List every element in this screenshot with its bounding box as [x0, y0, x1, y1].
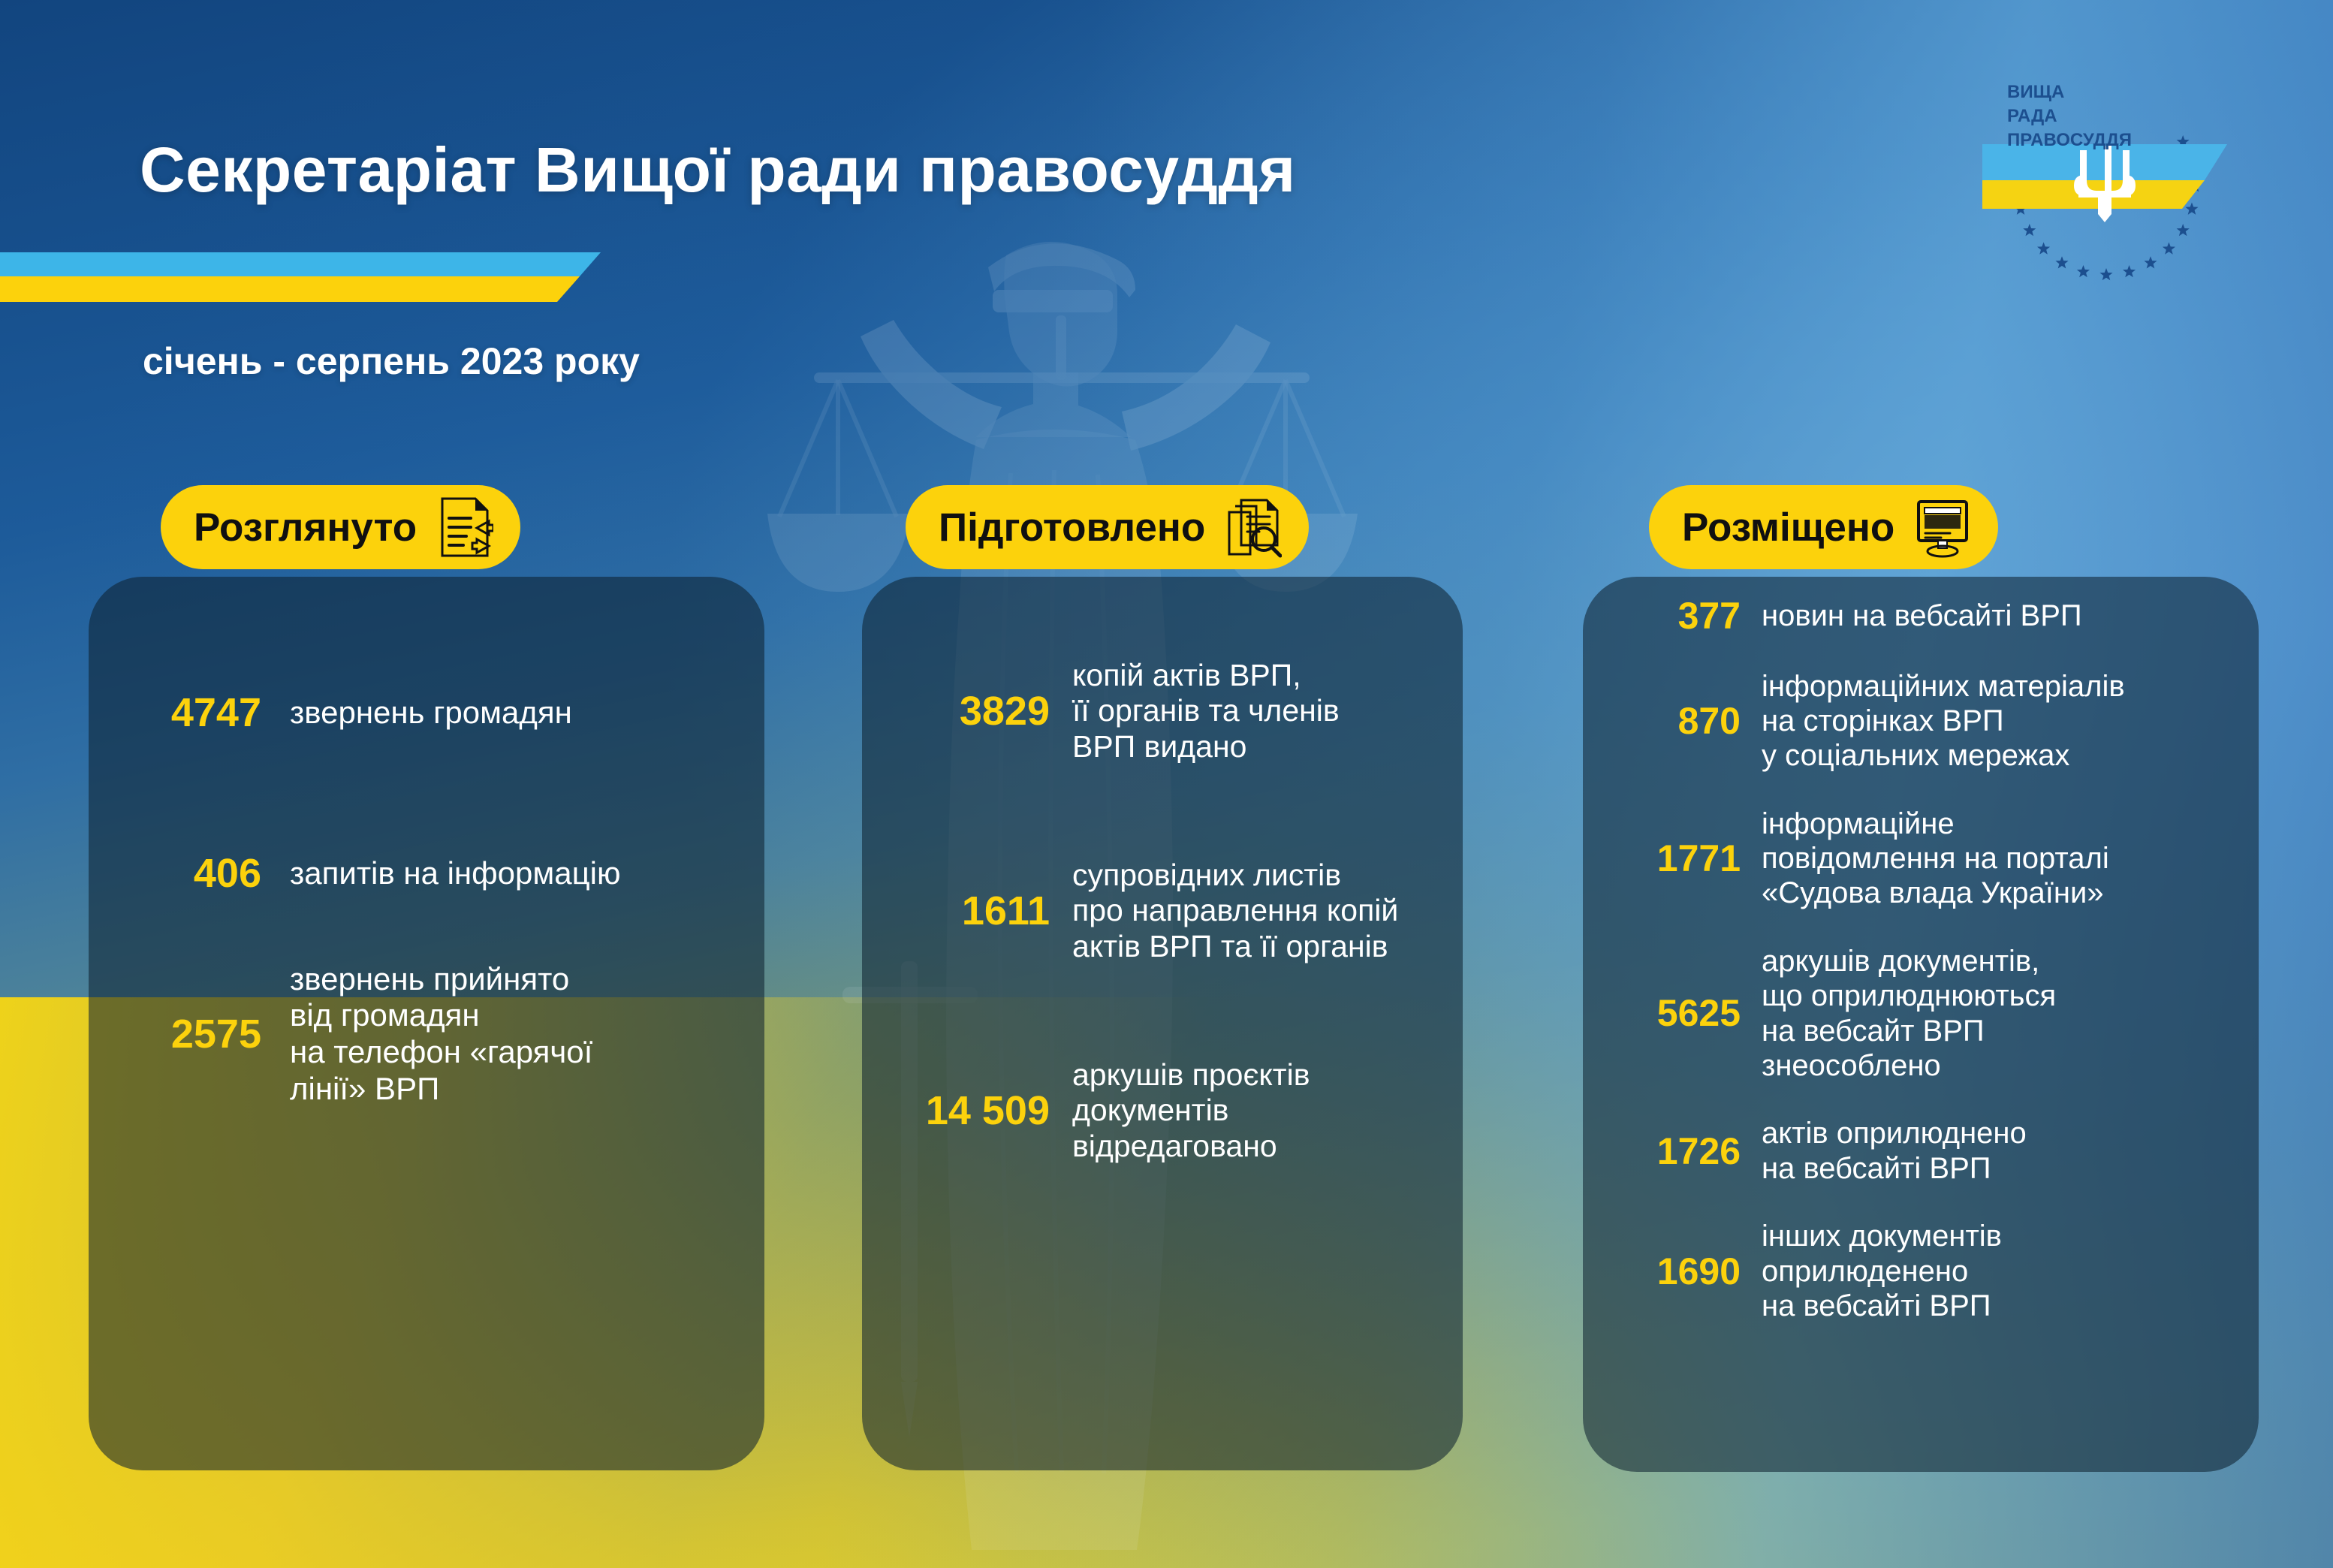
- stat-value: 2575: [89, 1013, 290, 1056]
- vrp-logo: ВИЩА РАДА ПРАВОСУДДЯ: [1966, 51, 2244, 291]
- stat-label: копій актів ВРП, її органів та членів ВР…: [1072, 658, 1463, 765]
- stat-label: інформаційних матеріалів на сторінках ВР…: [1762, 669, 2259, 773]
- card-body: 377 новин на вебсайті ВРП 870 інформацій…: [1583, 577, 2259, 1472]
- stat-label: запитів на інформацію: [290, 855, 764, 892]
- stat-label: інформаційне повідомлення на порталі «Су…: [1762, 807, 2259, 911]
- stat-row: 1771 інформаційне повідомлення на портал…: [1583, 807, 2259, 911]
- stat-row: 2575 звернень прийнято від громадян на т…: [89, 954, 764, 1114]
- stat-value: 1726: [1583, 1132, 1762, 1171]
- logo-line-2: РАДА: [2007, 106, 2057, 126]
- stat-list: 3829 копій актів ВРП, її органів та член…: [862, 577, 1463, 1211]
- stat-row: 5625 аркушів документів, що оприлюднюють…: [1583, 944, 2259, 1084]
- stat-label: інших документів оприлюденено на вебсайт…: [1762, 1219, 2259, 1323]
- stat-value: 1690: [1583, 1252, 1762, 1292]
- stat-row: 377 новин на вебсайті ВРП: [1583, 596, 2259, 636]
- stat-value: 406: [89, 852, 290, 895]
- stat-row: 14 509 аркушів проєктів документів відре…: [862, 1011, 1463, 1211]
- documents-magnifier-icon: [1225, 496, 1282, 559]
- stat-value: 5625: [1583, 994, 1762, 1033]
- stat-row: 1690 інших документів оприлюденено на ве…: [1583, 1219, 2259, 1323]
- stat-row: 870 інформаційних матеріалів на сторінка…: [1583, 669, 2259, 773]
- stat-list: 377 новин на вебсайті ВРП 870 інформацій…: [1583, 577, 2259, 1356]
- stat-label: аркушів документів, що оприлюднюються на…: [1762, 944, 2259, 1084]
- stat-row: 1611 супровідних листів про направлення …: [862, 811, 1463, 1011]
- card-body: 3829 копій актів ВРП, її органів та член…: [862, 577, 1463, 1470]
- stat-label: звернень прийнято від громадян на телефо…: [290, 961, 764, 1108]
- stat-label: супровідних листів про направлення копій…: [1072, 858, 1463, 965]
- infographic-slide: Секретаріат Вищої ради правосуддя січень…: [0, 0, 2333, 1568]
- stat-row: 4747 звернень громадян: [89, 632, 764, 793]
- stat-label: новин на вебсайті ВРП: [1762, 599, 2259, 633]
- document-with-arrows-icon: [436, 496, 493, 559]
- page-title: Секретаріат Вищої ради правосуддя: [140, 134, 1296, 207]
- stat-value: 377: [1583, 596, 1762, 636]
- stat-value: 4747: [89, 692, 290, 734]
- stat-value: 1771: [1583, 839, 1762, 879]
- trident-icon: [2074, 146, 2136, 222]
- stat-row: 1726 актів оприлюднено на вебсайті ВРП: [1583, 1116, 2259, 1186]
- card-body: 4747 звернень громадян 406 запитів на ін…: [89, 577, 764, 1470]
- card-header-pidhotovleno[interactable]: Підготовлено: [906, 485, 1309, 569]
- page-subtitle: січень - серпень 2023 року: [143, 339, 640, 383]
- logo-line-1: ВИЩА: [2007, 82, 2064, 102]
- stat-value: 14 509: [862, 1090, 1072, 1132]
- stat-label: аркушів проєктів документів відредагован…: [1072, 1057, 1463, 1165]
- logo-line-3: ПРАВОСУДДЯ: [2007, 130, 2132, 150]
- stat-label: звернень громадян: [290, 695, 764, 731]
- stat-value: 870: [1583, 701, 1762, 741]
- stat-label: актів оприлюднено на вебсайті ВРП: [1762, 1116, 2259, 1186]
- card-header-rozmishcheno[interactable]: Розміщено: [1649, 485, 1998, 569]
- stat-list: 4747 звернень громадян 406 запитів на ін…: [89, 577, 764, 1114]
- card-header-label: Розміщено: [1682, 508, 1894, 547]
- card-header-label: Підготовлено: [939, 508, 1205, 547]
- monitor-icon: [1914, 496, 1971, 559]
- stat-value: 3829: [862, 690, 1072, 733]
- stat-row: 3829 копій актів ВРП, її органів та член…: [862, 611, 1463, 811]
- stat-row: 406 запитів на інформацію: [89, 793, 764, 954]
- stat-value: 1611: [862, 890, 1072, 933]
- card-header-label: Розглянуто: [194, 508, 417, 547]
- card-header-rozhlianuto[interactable]: Розглянуто: [161, 485, 520, 569]
